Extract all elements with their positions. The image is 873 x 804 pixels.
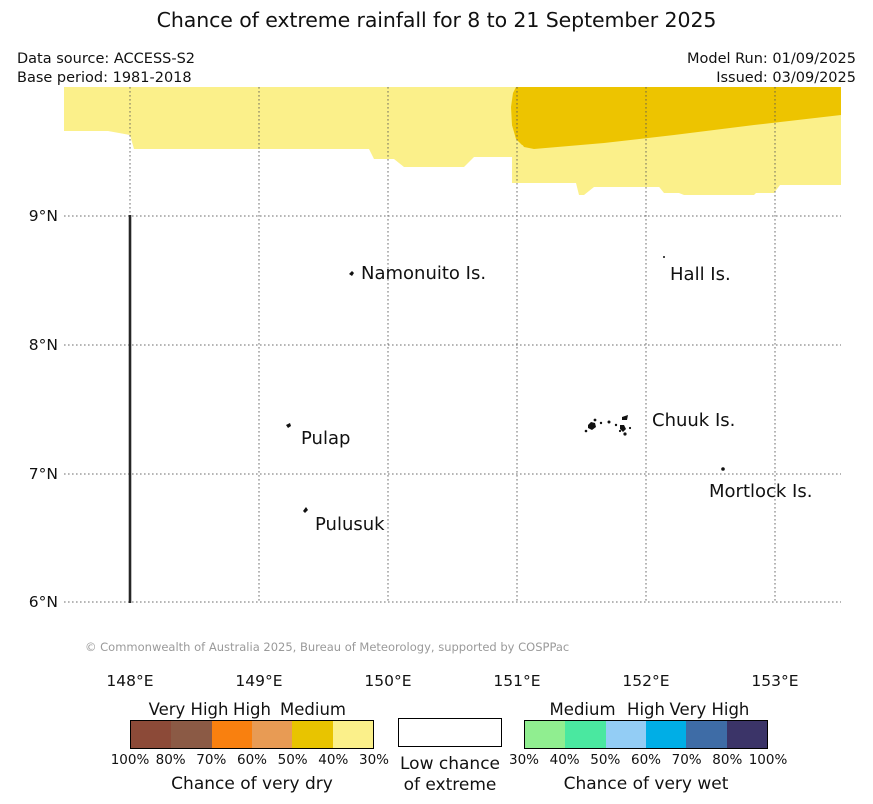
low-chance-text: Low chance of extreme	[398, 754, 502, 796]
dry-swatch-60-50	[252, 721, 292, 748]
x-axis-labels: 148°E 149°E 150°E 151°E 152°E 153°E	[64, 672, 841, 696]
map-label-pulusuk: Pulusuk	[315, 514, 385, 535]
wet-tick-60: 60%	[631, 752, 661, 768]
wet-category-very-high: Very High	[670, 700, 750, 719]
y-tick-6n: 6°N	[2, 593, 58, 611]
wet-colorbar[interactable]	[524, 720, 768, 749]
wet-tick-row: 30% 40% 50% 60% 70% 80% 100%	[524, 752, 768, 772]
dry-swatch-40-30	[333, 721, 373, 748]
x-tick-152e: 152°E	[601, 672, 691, 690]
map-label-chuuk: Chuuk Is.	[652, 410, 735, 431]
dry-tick-70: 70%	[196, 752, 226, 768]
wet-swatch-40-50	[565, 721, 605, 748]
wet-tick-50: 50%	[590, 752, 620, 768]
dry-tick-row: 100% 80% 70% 60% 50% 40% 30%	[130, 752, 374, 772]
dry-category-row: Very High High Medium	[130, 700, 374, 720]
dry-tick-80: 80%	[156, 752, 186, 768]
low-chance-swatch	[398, 718, 502, 747]
island-shape-chuuk	[585, 415, 631, 436]
legend-chance-very-dry: Very High High Medium 100% 80% 70% 60% 5…	[130, 700, 374, 794]
map-label-hall: Hall Is.	[670, 264, 731, 285]
dry-swatch-70-60	[212, 721, 252, 748]
wet-swatch-60-70	[646, 721, 686, 748]
map-label-mortlock: Mortlock Is.	[709, 481, 812, 502]
wet-swatch-30-40	[525, 721, 565, 748]
island-shape-mortlock	[721, 467, 725, 471]
coastline-layer	[64, 87, 841, 603]
dry-tick-40: 40%	[318, 752, 348, 768]
map-plot-area[interactable]	[64, 87, 841, 603]
page-title: Chance of extreme rainfall for 8 to 21 S…	[0, 8, 873, 32]
island-shape-pulusuk	[303, 507, 308, 513]
legend-low-chance: Low chance of extreme	[398, 718, 502, 796]
x-tick-151e: 151°E	[472, 672, 562, 690]
island-shape-pulap	[286, 423, 291, 428]
forecast-map-figure: Chance of extreme rainfall for 8 to 21 S…	[0, 0, 873, 804]
dry-swatch-100-80	[131, 721, 171, 748]
map-label-namonuito: Namonuito Is.	[361, 263, 486, 284]
dry-category-medium: Medium	[280, 700, 346, 719]
dry-swatch-80-70	[171, 721, 211, 748]
dry-legend-title: Chance of very dry	[130, 774, 374, 794]
x-tick-148e: 148°E	[85, 672, 175, 690]
wet-swatch-70-80	[686, 721, 726, 748]
wet-tick-30: 30%	[509, 752, 539, 768]
dry-swatch-50-40	[292, 721, 332, 748]
metadata-right: Model Run: 01/09/2025 Issued: 03/09/2025	[687, 50, 856, 87]
wet-category-medium: Medium	[550, 700, 616, 719]
data-source-text: Data source: ACCESS-S2	[17, 50, 195, 69]
wet-tick-80: 80%	[712, 752, 742, 768]
base-period-text: Base period: 1981-2018	[17, 69, 195, 88]
wet-legend-title: Chance of very wet	[524, 774, 768, 794]
wet-category-high: High	[627, 700, 665, 719]
x-tick-149e: 149°E	[214, 672, 304, 690]
dry-tick-30: 30%	[359, 752, 389, 768]
dry-colorbar[interactable]	[130, 720, 374, 749]
wet-swatch-80-100	[727, 721, 767, 748]
wet-tick-70: 70%	[672, 752, 702, 768]
x-tick-150e: 150°E	[343, 672, 433, 690]
map-label-pulap: Pulap	[301, 428, 350, 449]
copyright-text: © Commonwealth of Australia 2025, Bureau…	[85, 640, 569, 654]
y-tick-9n: 9°N	[2, 207, 58, 225]
wet-tick-40: 40%	[550, 752, 580, 768]
dry-tick-100: 100%	[111, 752, 150, 768]
island-shape-hall	[663, 256, 665, 258]
wet-category-row: Medium High Very High	[524, 700, 768, 720]
wet-tick-100: 100%	[749, 752, 788, 768]
issued-text: Issued: 03/09/2025	[687, 69, 856, 88]
low-chance-line2: of extreme	[398, 775, 502, 796]
metadata-left: Data source: ACCESS-S2 Base period: 1981…	[17, 50, 195, 87]
low-chance-line1: Low chance	[398, 754, 502, 775]
y-axis-labels: 9°N 8°N 7°N 6°N	[0, 87, 58, 603]
wet-swatch-50-60	[606, 721, 646, 748]
x-tick-153e: 153°E	[730, 672, 820, 690]
dry-category-very-high: Very High	[149, 700, 229, 719]
dry-tick-60: 60%	[237, 752, 267, 768]
y-tick-8n: 8°N	[2, 336, 58, 354]
legend-chance-very-wet: Medium High Very High 30% 40% 50% 60% 70…	[524, 700, 768, 794]
island-shape-namonuito	[349, 271, 354, 276]
dry-category-high: High	[233, 700, 271, 719]
dry-tick-50: 50%	[278, 752, 308, 768]
model-run-text: Model Run: 01/09/2025	[687, 50, 856, 69]
y-tick-7n: 7°N	[2, 465, 58, 483]
